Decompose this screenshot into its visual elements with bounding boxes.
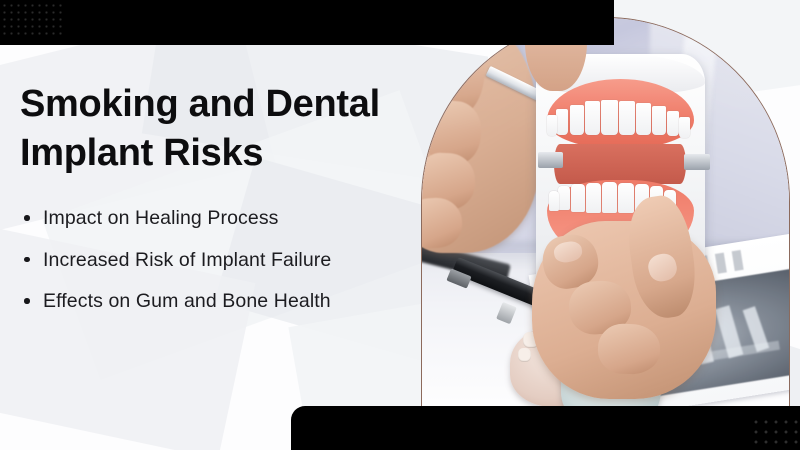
bottom-black-bar <box>291 406 800 450</box>
dental-photo <box>422 18 789 423</box>
hero-image-arch <box>421 17 790 424</box>
text-column: Smoking and Dental Implant Risks Impact … <box>20 80 410 331</box>
top-black-bar <box>0 0 614 45</box>
bullet-list: Impact on Healing Process Increased Risk… <box>20 207 410 313</box>
slide-title: Smoking and Dental Implant Risks <box>20 80 410 177</box>
list-item: Effects on Gum and Bone Health <box>20 290 410 313</box>
list-item-label: Increased Risk of Implant Failure <box>43 249 331 271</box>
dot-grid-pattern-top <box>0 1 64 39</box>
list-item: Increased Risk of Implant Failure <box>20 249 410 272</box>
list-item: Impact on Healing Process <box>20 207 410 230</box>
bullet-dot-icon <box>24 257 30 263</box>
bullet-dot-icon <box>24 215 30 221</box>
photo-mouth-gap <box>554 144 686 185</box>
bullet-dot-icon <box>24 298 30 304</box>
list-item-label: Effects on Gum and Bone Health <box>43 290 331 312</box>
slide-canvas: Smoking and Dental Implant Risks Impact … <box>0 0 800 450</box>
list-item-label: Impact on Healing Process <box>43 207 279 229</box>
dot-grid-pattern-bottom <box>748 414 800 450</box>
photo-hand-left <box>422 26 539 253</box>
